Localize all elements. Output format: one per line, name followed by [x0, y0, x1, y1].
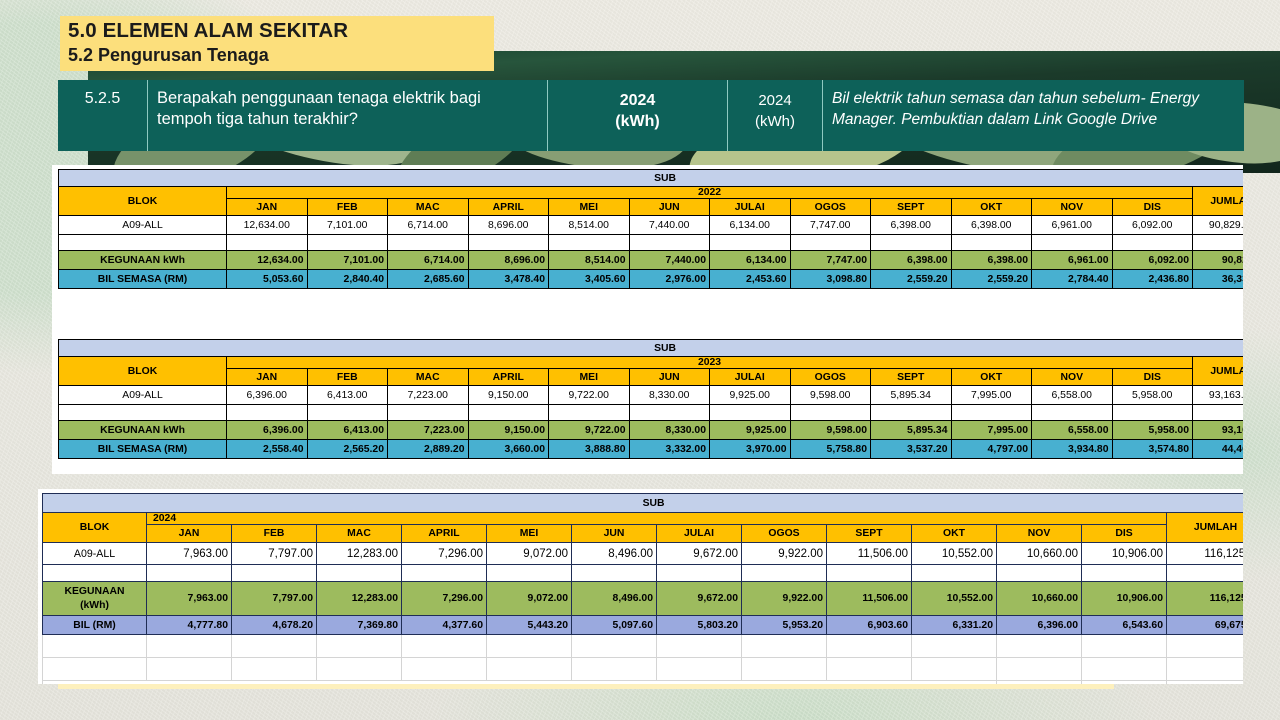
cell-value: 11,506.00	[827, 543, 912, 565]
col-header-month: JUN	[629, 199, 710, 216]
cell-blank	[1032, 235, 1113, 251]
cell-empty	[43, 635, 147, 658]
cell-value: 8,696.00	[468, 251, 549, 270]
col-header-month: MAC	[388, 369, 469, 386]
year-plain-line1: 2024	[737, 90, 813, 111]
col-header-month: JAN	[147, 525, 232, 543]
cell-value: 5,758.80	[790, 440, 871, 459]
cell-value: 6,134.00	[710, 216, 791, 235]
footnote-text: * Bil Elektrik (RM) adalah berdasarkan t…	[43, 681, 997, 685]
col-header-month: SEPT	[871, 199, 952, 216]
col-header-month: DIS	[1112, 369, 1193, 386]
cell-value: 4,377.60	[402, 616, 487, 635]
cell-blank	[912, 565, 997, 582]
cell-blank	[388, 405, 469, 421]
cell-blank	[402, 565, 487, 582]
cell-empty	[912, 658, 997, 681]
cell-value: 9,672.00	[657, 543, 742, 565]
table-row-blok-data: A09-ALL6,396.006,413.007,223.009,150.009…	[59, 386, 1244, 405]
table-row-sub: SUB	[43, 494, 1244, 513]
cell-empty	[402, 658, 487, 681]
cell-empty	[742, 635, 827, 658]
cell-value: 6,134.00	[710, 251, 791, 270]
col-header-month: OGOS	[790, 369, 871, 386]
question-number: 5.2.5	[58, 80, 148, 151]
cell-value: 7,223.00	[388, 386, 469, 405]
cell-value: 6,092.00	[1112, 251, 1193, 270]
cell-value: 12,634.00	[227, 251, 308, 270]
col-header-month: SEPT	[827, 525, 912, 543]
col-header-month: NOV	[1032, 369, 1113, 386]
cell-value: 7,440.00	[629, 251, 710, 270]
cell-value: 9,925.00	[710, 421, 791, 440]
cell-empty	[402, 635, 487, 658]
cell-value: 5,953.20	[742, 616, 827, 635]
cell-total: 44,466.20	[1193, 440, 1244, 459]
cell-value: 5,958.00	[1112, 421, 1193, 440]
cell-blank	[487, 565, 572, 582]
cell-value: 6,543.60	[1082, 616, 1167, 635]
cell-empty	[43, 658, 147, 681]
cell-blank	[1167, 565, 1244, 582]
cell-value: 7,797.00	[232, 543, 317, 565]
cell-empty	[1167, 635, 1244, 658]
cell-value: 6,398.00	[871, 251, 952, 270]
cell-blok-name: A09-ALL	[43, 543, 147, 565]
col-header-jumlah: JUMLAH	[1193, 187, 1244, 216]
cell-value: 7,440.00	[629, 216, 710, 235]
cell-value: 9,925.00	[710, 386, 791, 405]
cell-blank	[307, 405, 388, 421]
cell-blank	[468, 405, 549, 421]
col-header-month: MAC	[388, 199, 469, 216]
cell-blank	[629, 405, 710, 421]
cell-value: 6,398.00	[871, 216, 952, 235]
evidence-note: Bil elektrik tahun semasa dan tahun sebe…	[823, 80, 1244, 151]
cell-value: 5,895.34	[871, 386, 952, 405]
cell-empty	[657, 635, 742, 658]
col-header-blok: BLOK	[59, 357, 227, 386]
cell-empty	[1082, 658, 1167, 681]
energy-table-2023: SUBBLOK2023JUMLAHJANFEBMACAPRILMEIJUNJUL…	[58, 339, 1243, 459]
cell-blank	[1193, 235, 1244, 251]
spreadsheet-panel-2024: SUBBLOK2024JUMLAHJANFEBMACAPRILMEIJUNJUL…	[38, 489, 1243, 684]
cell-value: 2,559.20	[951, 270, 1032, 289]
cell-empty	[997, 635, 1082, 658]
table-row-bil: BIL SEMASA (RM)2,558.402,565.202,889.203…	[59, 440, 1244, 459]
cell-blank	[951, 235, 1032, 251]
table-row-year: BLOK2022JUMLAH	[59, 187, 1244, 199]
cell-value: 3,574.80	[1112, 440, 1193, 459]
cell-blank	[790, 405, 871, 421]
row-label-bil: BIL SEMASA (RM)	[59, 440, 227, 459]
cell-value: 9,672.00	[657, 582, 742, 616]
sub-header-label: SUB	[59, 340, 1244, 357]
cell-value: 2,685.60	[388, 270, 469, 289]
col-header-month: JAN	[227, 199, 308, 216]
cell-value: 6,714.00	[388, 216, 469, 235]
cell-blank	[997, 565, 1082, 582]
cell-value: 2,565.20	[307, 440, 388, 459]
cell-value: 10,906.00	[1082, 582, 1167, 616]
cell-value: 8,330.00	[629, 386, 710, 405]
cell-total: 69,675.00	[1167, 616, 1244, 635]
table-row-sub: SUB	[59, 170, 1244, 187]
cell-empty	[827, 635, 912, 658]
cell-value: 6,413.00	[307, 421, 388, 440]
cell-value: 2,840.40	[307, 270, 388, 289]
cell-blank	[1193, 405, 1244, 421]
cell-value: 9,722.00	[549, 386, 630, 405]
table-row-sub: SUB	[59, 340, 1244, 357]
cell-value: 3,098.80	[790, 270, 871, 289]
cell-value: 6,398.00	[951, 216, 1032, 235]
sub-header-label: SUB	[43, 494, 1244, 513]
year-bold-line1: 2024	[557, 90, 718, 111]
cell-blank	[871, 235, 952, 251]
year-column-bold: 2024 (kWh)	[548, 80, 728, 151]
cell-value: 4,777.80	[147, 616, 232, 635]
cell-value: 8,696.00	[468, 216, 549, 235]
col-header-month: APRIL	[468, 199, 549, 216]
cell-blank	[147, 565, 232, 582]
row-label-kegunaan: KEGUNAAN kWh	[59, 251, 227, 270]
table-row-months: JANFEBMACAPRILMEIJUNJULAIOGOSSEPTOKTNOVD…	[43, 525, 1244, 543]
table-row-blank	[59, 405, 1244, 421]
cell-value: 7,963.00	[147, 582, 232, 616]
table-row-empty-grid	[43, 635, 1244, 658]
cell-empty	[1167, 658, 1244, 681]
cell-value: 2,889.20	[388, 440, 469, 459]
slide-title-box: 5.0 ELEMEN ALAM SEKITAR 5.2 Pengurusan T…	[60, 16, 494, 71]
cell-empty	[997, 681, 1082, 685]
cell-value: 9,598.00	[790, 421, 871, 440]
cell-value: 7,995.00	[951, 421, 1032, 440]
col-header-month: MEI	[549, 199, 630, 216]
cell-empty	[317, 658, 402, 681]
cell-value: 7,101.00	[307, 216, 388, 235]
cell-empty	[147, 658, 232, 681]
cell-blank	[468, 235, 549, 251]
cell-value: 10,552.00	[912, 543, 997, 565]
cell-empty	[487, 635, 572, 658]
cell-value: 3,660.00	[468, 440, 549, 459]
col-header-month: OKT	[912, 525, 997, 543]
cell-empty	[147, 635, 232, 658]
cell-blank	[951, 405, 1032, 421]
cell-empty	[657, 658, 742, 681]
cell-value: 9,598.00	[790, 386, 871, 405]
table-row-bil: BIL (RM)4,777.804,678.207,369.804,377.60…	[43, 616, 1244, 635]
col-header-month: FEB	[307, 369, 388, 386]
cell-total: 93,163.34	[1193, 421, 1244, 440]
cell-value: 6,961.00	[1032, 216, 1113, 235]
cell-value: 9,150.00	[468, 421, 549, 440]
cell-blank	[657, 565, 742, 582]
cell-value: 8,330.00	[629, 421, 710, 440]
cell-value: 2,559.20	[871, 270, 952, 289]
col-header-month: FEB	[307, 199, 388, 216]
cell-empty	[1167, 681, 1244, 685]
cell-value: 7,995.00	[951, 386, 1032, 405]
col-header-month: OKT	[951, 369, 1032, 386]
question-text: Berapakah penggunaan tenaga elektrik bag…	[148, 80, 548, 151]
table-row-kegunaan: KEGUNAAN(kWh)7,963.007,797.0012,283.007,…	[43, 582, 1244, 616]
row-label-kegunaan: KEGUNAAN(kWh)	[43, 582, 147, 616]
cell-value: 7,223.00	[388, 421, 469, 440]
table-row-blank	[59, 235, 1244, 251]
table-row-year: BLOK2023JUMLAH	[59, 357, 1244, 369]
cell-value: 4,678.20	[232, 616, 317, 635]
cell-value: 2,436.80	[1112, 270, 1193, 289]
row-label-bil: BIL (RM)	[43, 616, 147, 635]
energy-table-2024: SUBBLOK2024JUMLAHJANFEBMACAPRILMEIJUNJUL…	[42, 493, 1243, 684]
cell-value: 7,296.00	[402, 543, 487, 565]
cell-value: 6,558.00	[1032, 386, 1113, 405]
cell-empty	[317, 635, 402, 658]
table-row-footnote: * Bil Elektrik (RM) adalah berdasarkan t…	[43, 681, 1244, 685]
cell-value: 9,150.00	[468, 386, 549, 405]
cell-value: 10,660.00	[997, 543, 1082, 565]
cell-value: 12,634.00	[227, 216, 308, 235]
col-header-month: JUN	[629, 369, 710, 386]
page-title: 5.0 ELEMEN ALAM SEKITAR	[68, 18, 494, 43]
cell-value: 6,413.00	[307, 386, 388, 405]
cell-blank	[871, 405, 952, 421]
cell-value: 7,797.00	[232, 582, 317, 616]
cell-value: 9,922.00	[742, 582, 827, 616]
col-header-month: SEPT	[871, 369, 952, 386]
cell-value: 7,296.00	[402, 582, 487, 616]
col-header-blok: BLOK	[43, 513, 147, 543]
cell-blank	[549, 405, 630, 421]
table-row-kegunaan: KEGUNAAN kWh6,396.006,413.007,223.009,15…	[59, 421, 1244, 440]
cell-value: 3,934.80	[1032, 440, 1113, 459]
cell-blok-name: A09-ALL	[59, 386, 227, 405]
col-header-month: APRIL	[468, 369, 549, 386]
col-header-month: JULAI	[657, 525, 742, 543]
cell-blank	[790, 235, 871, 251]
col-header-month: JULAI	[710, 369, 791, 386]
cell-blank	[1082, 565, 1167, 582]
col-header-month: NOV	[997, 525, 1082, 543]
col-header-month: NOV	[1032, 199, 1113, 216]
col-header-year: 2024	[147, 513, 1167, 525]
cell-empty	[1082, 635, 1167, 658]
cell-blank	[317, 565, 402, 582]
year-column-plain: 2024 (kWh)	[728, 80, 823, 151]
col-header-month: MAC	[317, 525, 402, 543]
cell-value: 7,101.00	[307, 251, 388, 270]
col-header-month: MEI	[549, 369, 630, 386]
cell-empty	[572, 635, 657, 658]
cell-blank	[59, 235, 227, 251]
cell-value: 2,558.40	[227, 440, 308, 459]
cell-total: 90,829.00	[1193, 251, 1244, 270]
table-row-bil: BIL SEMASA (RM)5,053.602,840.402,685.603…	[59, 270, 1244, 289]
cell-empty	[232, 635, 317, 658]
energy-table-2022: SUBBLOK2022JUMLAHJANFEBMACAPRILMEIJUNJUL…	[58, 169, 1243, 289]
cell-total: 36,331.60	[1193, 270, 1244, 289]
col-header-month: MEI	[487, 525, 572, 543]
cell-value: 4,797.00	[951, 440, 1032, 459]
cell-value: 5,803.20	[657, 616, 742, 635]
question-bar: 5.2.5 Berapakah penggunaan tenaga elektr…	[58, 80, 1244, 151]
cell-total: 116,125.00	[1167, 543, 1244, 565]
cell-value: 3,537.20	[871, 440, 952, 459]
cell-empty	[827, 658, 912, 681]
col-header-year: 2022	[227, 187, 1193, 199]
col-header-blok: BLOK	[59, 187, 227, 216]
cell-value: 6,714.00	[388, 251, 469, 270]
cell-empty	[997, 658, 1082, 681]
cell-blank	[1112, 405, 1193, 421]
spreadsheet-panel-2022-2023: SUBBLOK2022JUMLAHJANFEBMACAPRILMEIJUNJUL…	[52, 165, 1243, 474]
cell-value: 6,398.00	[951, 251, 1032, 270]
cell-value: 11,506.00	[827, 582, 912, 616]
cell-blank	[227, 235, 308, 251]
cell-value: 3,888.80	[549, 440, 630, 459]
col-header-month: FEB	[232, 525, 317, 543]
cell-total: 90,829.00	[1193, 216, 1244, 235]
cell-value: 6,396.00	[227, 421, 308, 440]
cell-value: 10,552.00	[912, 582, 997, 616]
cell-value: 8,496.00	[572, 582, 657, 616]
cell-value: 6,903.60	[827, 616, 912, 635]
cell-blok-name: A09-ALL	[59, 216, 227, 235]
table-row-months: JANFEBMACAPRILMEIJUNJULAIOGOSSEPTOKTNOVD…	[59, 199, 1244, 216]
col-header-month: JAN	[227, 369, 308, 386]
cell-value: 9,072.00	[487, 543, 572, 565]
cell-value: 6,396.00	[227, 386, 308, 405]
cell-value: 5,895.34	[871, 421, 952, 440]
cell-value: 6,558.00	[1032, 421, 1113, 440]
cell-blank	[710, 405, 791, 421]
cell-value: 10,906.00	[1082, 543, 1167, 565]
cell-value: 5,958.00	[1112, 386, 1193, 405]
cell-total: 93,163.34	[1193, 386, 1244, 405]
col-header-month: JUN	[572, 525, 657, 543]
cell-value: 5,053.60	[227, 270, 308, 289]
sub-header-label: SUB	[59, 170, 1244, 187]
cell-blank	[227, 405, 308, 421]
cell-value: 2,784.40	[1032, 270, 1113, 289]
row-label-bil: BIL SEMASA (RM)	[59, 270, 227, 289]
col-header-month: OGOS	[790, 199, 871, 216]
page-subtitle: 5.2 Pengurusan Tenaga	[68, 43, 494, 68]
cell-value: 3,405.60	[549, 270, 630, 289]
cell-value: 6,092.00	[1112, 216, 1193, 235]
cell-value: 7,747.00	[790, 251, 871, 270]
table-row-blok-data: A09-ALL12,634.007,101.006,714.008,696.00…	[59, 216, 1244, 235]
cell-value: 7,963.00	[147, 543, 232, 565]
cell-empty	[912, 635, 997, 658]
year-bold-line2: (kWh)	[557, 111, 718, 132]
cell-blank	[1112, 235, 1193, 251]
table-row-empty-grid	[43, 658, 1244, 681]
cell-blank	[572, 565, 657, 582]
table-row-kegunaan: KEGUNAAN kWh12,634.007,101.006,714.008,6…	[59, 251, 1244, 270]
cell-value: 7,369.80	[317, 616, 402, 635]
cell-value: 8,514.00	[549, 251, 630, 270]
cell-value: 8,514.00	[549, 216, 630, 235]
year-plain-line2: (kWh)	[737, 111, 813, 132]
cell-empty	[742, 658, 827, 681]
cell-value: 6,961.00	[1032, 251, 1113, 270]
col-header-year: 2023	[227, 357, 1193, 369]
col-header-month: DIS	[1082, 525, 1167, 543]
col-header-month: OKT	[951, 199, 1032, 216]
table-row-blok-data: A09-ALL7,963.007,797.0012,283.007,296.00…	[43, 543, 1244, 565]
cell-value: 3,970.00	[710, 440, 791, 459]
cell-value: 8,496.00	[572, 543, 657, 565]
cell-value: 2,976.00	[629, 270, 710, 289]
row-label-kegunaan: KEGUNAAN kWh	[59, 421, 227, 440]
cell-empty	[232, 658, 317, 681]
cell-value: 3,478.40	[468, 270, 549, 289]
table-row-year: BLOK2024JUMLAH	[43, 513, 1244, 525]
col-header-month: APRIL	[402, 525, 487, 543]
cell-value: 9,722.00	[549, 421, 630, 440]
cell-value: 9,072.00	[487, 582, 572, 616]
cell-blank	[388, 235, 469, 251]
cell-value: 5,443.20	[487, 616, 572, 635]
cell-value: 12,283.00	[317, 582, 402, 616]
cell-blank	[59, 405, 227, 421]
cell-blank	[827, 565, 912, 582]
table-row-blank	[43, 565, 1244, 582]
cell-total: 116,125.00	[1167, 582, 1244, 616]
cell-blank	[232, 565, 317, 582]
cell-value: 10,660.00	[997, 582, 1082, 616]
col-header-jumlah: JUMLAH	[1193, 357, 1244, 386]
cell-empty	[1082, 681, 1167, 685]
cell-empty	[487, 658, 572, 681]
cell-blank	[1032, 405, 1113, 421]
cell-value: 12,283.00	[317, 543, 402, 565]
cell-empty	[572, 658, 657, 681]
cell-value: 7,747.00	[790, 216, 871, 235]
cell-value: 2,453.60	[710, 270, 791, 289]
table-row-months: JANFEBMACAPRILMEIJUNJULAIOGOSSEPTOKTNOVD…	[59, 369, 1244, 386]
col-header-month: DIS	[1112, 199, 1193, 216]
cell-value: 6,396.00	[997, 616, 1082, 635]
cell-blank	[549, 235, 630, 251]
cell-value: 5,097.60	[572, 616, 657, 635]
col-header-month: OGOS	[742, 525, 827, 543]
cell-value: 3,332.00	[629, 440, 710, 459]
cell-blank	[307, 235, 388, 251]
cell-value: 6,331.20	[912, 616, 997, 635]
cell-blank	[629, 235, 710, 251]
cell-blank	[710, 235, 791, 251]
cell-value: 9,922.00	[742, 543, 827, 565]
col-header-month: JULAI	[710, 199, 791, 216]
cell-blank	[742, 565, 827, 582]
col-header-jumlah: JUMLAH	[1167, 513, 1244, 543]
cell-blank	[43, 565, 147, 582]
